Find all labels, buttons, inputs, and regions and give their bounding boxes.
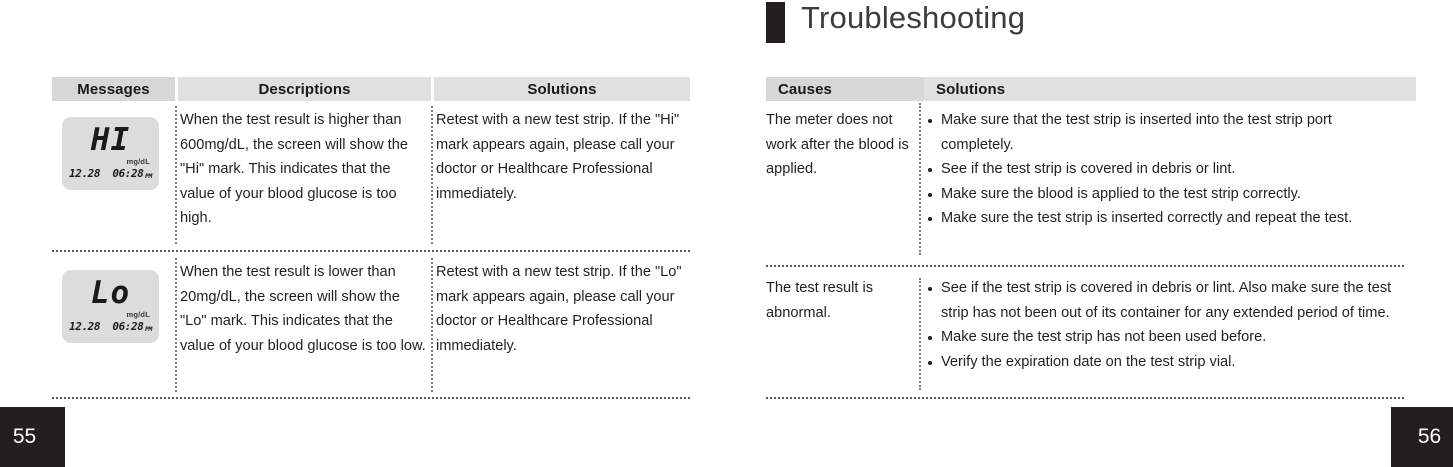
- chapter-accent-bar: [766, 2, 785, 43]
- solution-cell: Retest with a new test strip. If the "Hi…: [436, 108, 688, 206]
- column-divider: [919, 278, 921, 390]
- list-item: Make sure that the test strip is inserte…: [924, 108, 1402, 157]
- meter-time-group: 06:28 PM: [112, 167, 152, 180]
- solutions-list: Make sure that the test strip is inserte…: [924, 108, 1402, 231]
- column-divider: [431, 258, 433, 392]
- column-header-causes: Causes: [766, 77, 930, 101]
- column-header-descriptions: Descriptions: [178, 77, 431, 101]
- column-header-solutions: Solutions: [924, 77, 1416, 101]
- meter-reading: Lo: [62, 276, 159, 310]
- meter-unit: mg/dL: [127, 310, 151, 319]
- solutions-list: See if the test strip is covered in debr…: [924, 276, 1402, 374]
- page-number-right: 56: [1391, 407, 1453, 467]
- meter-time-group: 06:28 PM: [112, 320, 152, 333]
- page-title: Troubleshooting: [801, 0, 1025, 36]
- cause-cell: The meter does not work after the blood …: [766, 108, 916, 182]
- cause-cell: The test result is abnormal.: [766, 276, 918, 325]
- description-cell: When the test result is higher than 600m…: [180, 108, 428, 231]
- list-item: Make sure the test strip is inserted cor…: [924, 206, 1402, 231]
- column-divider: [431, 106, 433, 244]
- meter-time: 06:28: [112, 167, 143, 180]
- meter-date: 12.28: [69, 167, 100, 180]
- page-number-left: 55: [0, 407, 65, 467]
- list-item: See if the test strip is covered in debr…: [924, 157, 1402, 182]
- row-divider: [52, 250, 690, 252]
- meter-ampm: PM: [145, 172, 152, 180]
- meter-reading: HI: [62, 123, 159, 157]
- column-divider: [175, 258, 177, 392]
- meter-unit: mg/dL: [127, 157, 151, 166]
- meter-display-hi: HI mg/dL 12.28 06:28 PM: [62, 117, 159, 190]
- list-item: Make sure the test strip has not been us…: [924, 325, 1402, 350]
- column-divider: [175, 106, 177, 244]
- row-divider: [766, 265, 1404, 267]
- column-divider: [919, 103, 921, 255]
- meter-footer: 12.28 06:28 PM: [69, 167, 152, 180]
- row-divider: [766, 397, 1404, 399]
- row-divider: [52, 397, 690, 399]
- column-header-solutions: Solutions: [434, 77, 690, 101]
- meter-ampm: PM: [145, 325, 152, 333]
- column-header-solutions-label: Solutions: [527, 81, 596, 98]
- description-cell: When the test result is lower than 20mg/…: [180, 260, 428, 358]
- manual-spread: Messages Descriptions Solutions HI mg/dL…: [0, 0, 1453, 461]
- list-item: Verify the expiration date on the test s…: [924, 350, 1402, 375]
- column-header-descriptions-label: Descriptions: [258, 81, 350, 98]
- list-item: Make sure the blood is applied to the te…: [924, 182, 1402, 207]
- column-header-solutions-label: Solutions: [936, 81, 1005, 98]
- column-header-causes-label: Causes: [778, 81, 832, 98]
- column-header-messages: Messages: [52, 77, 175, 101]
- meter-footer: 12.28 06:28 PM: [69, 320, 152, 333]
- solution-cell: Retest with a new test strip. If the "Lo…: [436, 260, 688, 358]
- meter-time: 06:28: [112, 320, 143, 333]
- column-header-messages-label: Messages: [77, 81, 150, 98]
- meter-date: 12.28: [69, 320, 100, 333]
- list-item: See if the test strip is covered in debr…: [924, 276, 1402, 325]
- meter-display-lo: Lo mg/dL 12.28 06:28 PM: [62, 270, 159, 343]
